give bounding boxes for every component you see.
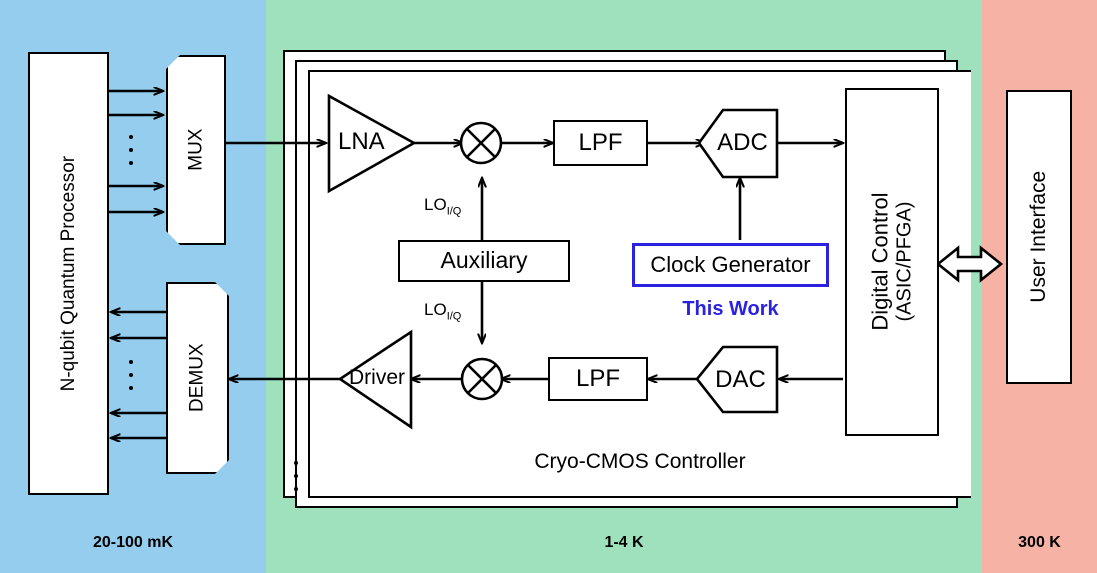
controller-caption: Cryo-CMOS Controller bbox=[400, 450, 880, 474]
block-auxiliary[interactable]: Auxiliary bbox=[398, 240, 570, 282]
lpf-transmit-label: LPF bbox=[576, 366, 620, 393]
zone-label-millikelvin: 20-100 mK bbox=[0, 534, 266, 552]
this-work-annotation: This Work bbox=[632, 298, 829, 321]
lo-receive-main: LO bbox=[424, 195, 447, 214]
mux-label: MUX bbox=[185, 129, 206, 171]
lo-receive-sub: I/Q bbox=[447, 205, 462, 217]
digital-control-label: Digital Control (ASIC/PFGA) bbox=[869, 193, 916, 331]
adc-label: ADC bbox=[705, 129, 780, 157]
mux-channel-ellipsis bbox=[126, 135, 136, 165]
digital-control-line2: (ASIC/PFGA) bbox=[893, 193, 915, 331]
lna-label: LNA bbox=[338, 128, 408, 156]
diagram-canvas: N-qubit Quantum Processor MUX DEMUX LNA … bbox=[0, 0, 1097, 573]
demux-label: DEMUX bbox=[187, 344, 208, 413]
block-clock-generator[interactable]: Clock Generator bbox=[632, 243, 829, 287]
block-lpf-receive[interactable]: LPF bbox=[553, 120, 648, 166]
lo-transmit-main: LO bbox=[424, 300, 447, 319]
bidirectional-link-arrow bbox=[938, 248, 1001, 280]
block-mux[interactable]: MUX bbox=[166, 55, 226, 245]
mixer-transmit bbox=[462, 359, 502, 399]
block-lpf-transmit[interactable]: LPF bbox=[548, 357, 648, 401]
demux-channel-ellipsis bbox=[126, 360, 136, 390]
lpf-receive-label: LPF bbox=[578, 130, 622, 157]
lo-transmit-label: LOI/Q bbox=[424, 300, 461, 322]
auxiliary-label: Auxiliary bbox=[441, 248, 528, 274]
zone-label-300-kelvin: 300 K bbox=[982, 534, 1097, 552]
zone-label-1to4-kelvin: 1-4 K bbox=[266, 534, 982, 552]
dac-label: DAC bbox=[703, 366, 778, 394]
block-demux[interactable]: DEMUX bbox=[166, 282, 229, 474]
clock-generator-label: Clock Generator bbox=[650, 253, 810, 278]
digital-control-line1: Digital Control bbox=[869, 193, 894, 331]
user-interface-label: User Interface bbox=[1027, 171, 1051, 303]
driver-label: Driver bbox=[349, 366, 419, 390]
block-quantum-processor[interactable]: N-qubit Quantum Processor bbox=[28, 52, 109, 495]
lo-transmit-sub: I/Q bbox=[447, 310, 462, 322]
mixer-receive bbox=[461, 123, 501, 163]
quantum-processor-label: N-qubit Quantum Processor bbox=[58, 156, 79, 392]
block-user-interface[interactable]: User Interface bbox=[1006, 90, 1072, 384]
lo-receive-label: LOI/Q bbox=[424, 195, 461, 217]
block-digital-control[interactable]: Digital Control (ASIC/PFGA) bbox=[845, 88, 939, 436]
